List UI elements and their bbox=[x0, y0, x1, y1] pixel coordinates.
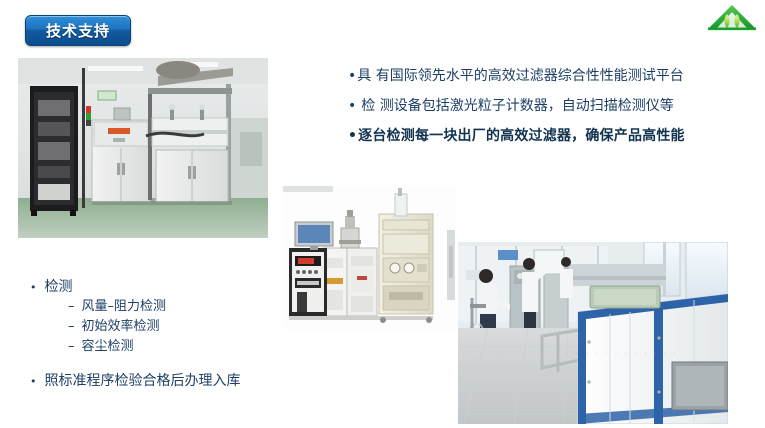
photo-lab-racks bbox=[18, 58, 268, 238]
left-sub-item-2: – 初始效率检测 bbox=[68, 317, 330, 337]
left-bullet-footer-text: 照标准程序检验合格后办理入库 bbox=[45, 372, 241, 391]
section-title-badge: 技术支持 bbox=[25, 15, 131, 46]
right-bullet-2-text: 检 测设备包括激光粒子计数器，自动扫描检测仪等 bbox=[361, 98, 673, 115]
left-bullet-footer: • 照标准程序检验合格后办理入库 bbox=[30, 372, 330, 391]
company-logo: 奥博环保 bbox=[706, 3, 758, 41]
photo-lab-racks-illustration bbox=[18, 58, 268, 238]
left-bullet-list: • 检测 – 风量–阻力检测 – 初始效率检测 – 容尘检测 • 照标准程序检验… bbox=[30, 278, 330, 391]
left-bullet-heading-text: 检测 bbox=[45, 278, 73, 297]
left-sub-item-1-text: 风量–阻力检测 bbox=[82, 297, 167, 317]
slide-root: 技术支持 奥博环 bbox=[0, 0, 765, 428]
photo-cleanroom-illustration: . . . . . . . . . . . . . . . . . . . bbox=[458, 242, 728, 424]
bullet-dot-icon: • bbox=[30, 278, 37, 297]
left-sub-item-3-text: 容尘检测 bbox=[82, 337, 134, 357]
photo-cleanroom: . . . . . . . . . . . . . . . . . . . bbox=[458, 242, 728, 424]
right-bullet-list: • 具 有国际领先水平的高效过滤器综合性性能测试平台 • 检 测设备包括激光粒子… bbox=[348, 68, 760, 158]
right-bullet-1-text: 具 有国际领先水平的高效过滤器综合性性能测试平台 bbox=[357, 68, 683, 85]
right-bullet-1: • 具 有国际领先水平的高效过滤器综合性性能测试平台 bbox=[348, 68, 760, 85]
left-sub-item-3: – 容尘检测 bbox=[68, 337, 330, 357]
section-title-label: 技术支持 bbox=[46, 20, 110, 41]
dash-icon: – bbox=[68, 337, 75, 357]
left-sub-item-2-text: 初始效率检测 bbox=[82, 317, 160, 337]
svg-text:. . . . . . . . . . . . . . .: . . . . . . . . . . . . . . . . . . . bbox=[498, 347, 678, 357]
bullet-dot-icon: • bbox=[348, 128, 357, 145]
bullet-dot-icon: • bbox=[348, 98, 356, 115]
right-bullet-3: • 逐台检测每一块出厂的高效过滤器，确保产品高性能 bbox=[348, 128, 760, 145]
bullet-dot-icon: • bbox=[30, 372, 37, 391]
right-bullet-2: • 检 测设备包括激光粒子计数器，自动扫描检测仪等 bbox=[348, 98, 760, 115]
right-bullet-3-text: 逐台检测每一块出厂的高效过滤器，确保产品高性能 bbox=[358, 128, 685, 145]
green-mountain-triangle-icon bbox=[706, 3, 758, 41]
dash-icon: – bbox=[68, 297, 75, 317]
left-sub-item-1: – 风量–阻力检测 bbox=[68, 297, 330, 317]
bullet-dot-icon: • bbox=[348, 68, 356, 85]
left-bullet-heading: • 检测 bbox=[30, 278, 330, 297]
dash-icon: – bbox=[68, 317, 75, 337]
